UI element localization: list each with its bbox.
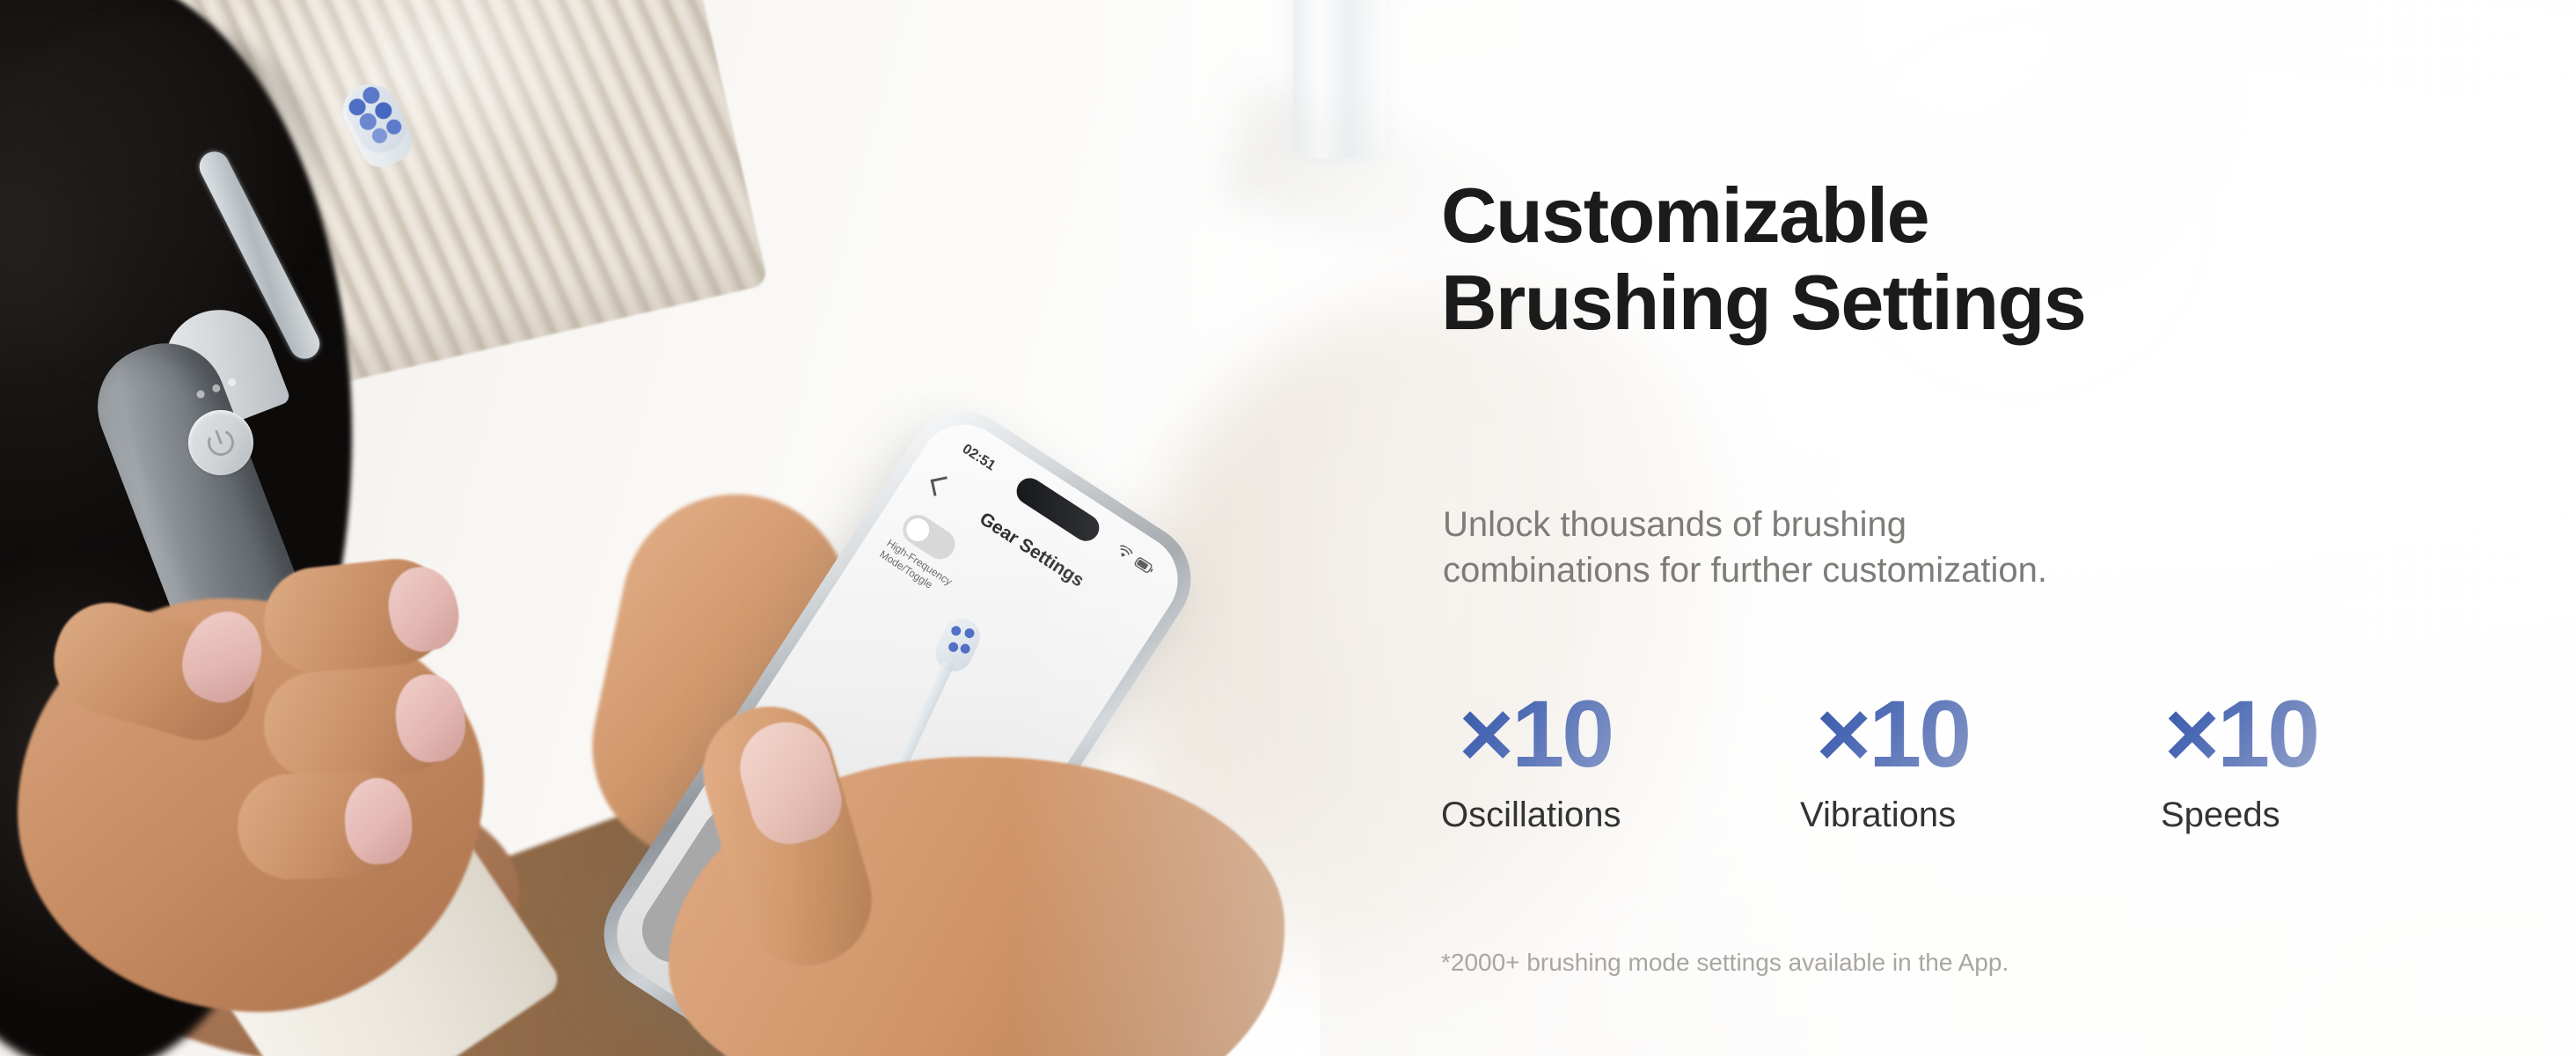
stat-label: Vibrations <box>1797 797 2152 832</box>
status-icons <box>1115 543 1156 576</box>
stat-value: ×10 <box>1797 686 2152 781</box>
stat-vibrations: ×10 Vibrations <box>1797 686 2152 832</box>
status-time: 02:51 <box>959 442 998 474</box>
stat-speeds: ×10 Speeds <box>2152 686 2442 832</box>
subheadline: Unlock thousands of brushing combination… <box>1443 502 2047 593</box>
stat-label: Speeds <box>2152 797 2442 832</box>
glass-tumbler <box>1293 0 1385 158</box>
copy-panel: Customizable Brushing Settings Unlock th… <box>1441 0 2532 1056</box>
stat-value: ×10 <box>2152 686 2442 781</box>
wifi-icon <box>1115 543 1135 562</box>
stat-oscillations: ×10 Oscillations <box>1441 686 1797 832</box>
page-title: Customizable Brushing Settings <box>1441 172 2085 346</box>
stat-value: ×10 <box>1441 686 1797 781</box>
battery-icon <box>1133 556 1155 576</box>
stats-row: ×10 Oscillations ×10 Vibrations ×10 Spee… <box>1441 686 2442 832</box>
stat-label: Oscillations <box>1441 797 1797 832</box>
product-feature-banner: 02:51 Gear Settings High- <box>0 0 2576 1056</box>
footnote: *2000+ brushing mode settings available … <box>1441 950 2009 975</box>
